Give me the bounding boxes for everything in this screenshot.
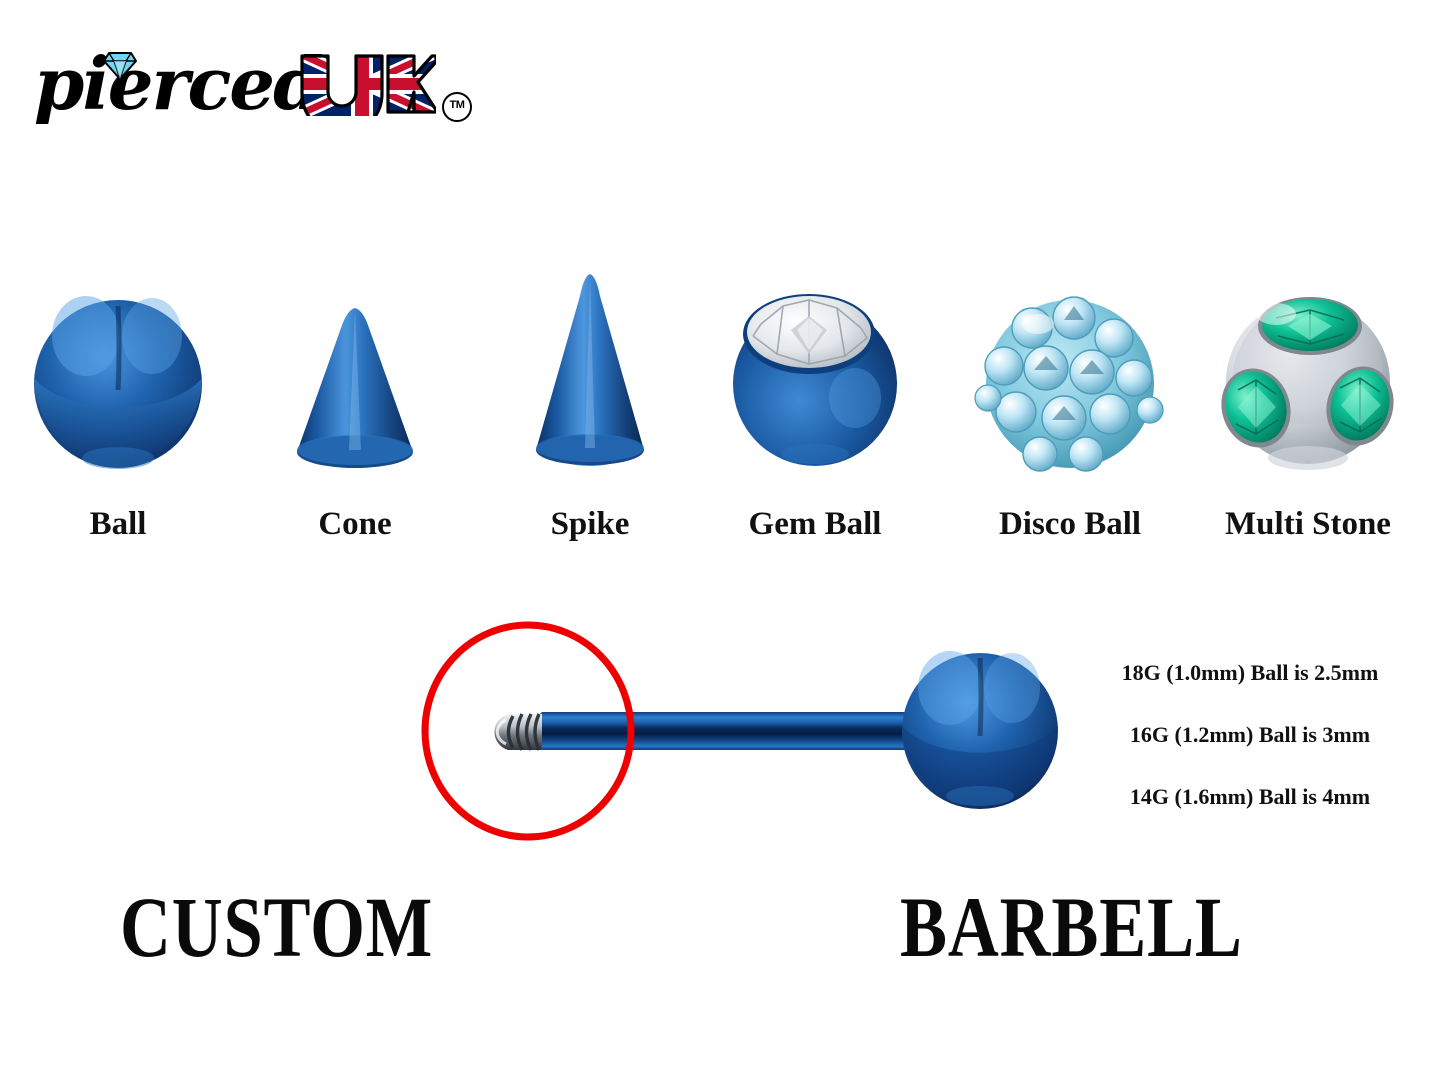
product-label-ball: Ball: [8, 506, 228, 543]
blue-spike-icon: [480, 262, 700, 502]
product-label-spike: Spike: [480, 506, 700, 543]
product-label-disco-ball: Disco Ball: [960, 506, 1180, 543]
product-item-disco-ball[interactable]: Disco Ball: [960, 262, 1180, 562]
brand-logo: pierced: [28, 40, 478, 135]
product-item-gem-ball[interactable]: Gem Ball: [705, 262, 925, 562]
size-spec-18g: 18G (1.0mm) Ball is 2.5mm: [1090, 660, 1410, 686]
blue-cone-icon: [245, 262, 465, 502]
multi-stone-ball-icon: [1198, 262, 1418, 502]
barbell-end-ball-icon: [902, 651, 1058, 809]
diamond-icon: [102, 50, 138, 82]
blue-ball-icon: [8, 262, 228, 502]
size-specification-list: 18G (1.0mm) Ball is 2.5mm 16G (1.2mm) Ba…: [1090, 660, 1410, 846]
disco-ball-icon: [960, 262, 1180, 502]
product-item-spike[interactable]: Spike: [480, 262, 700, 562]
union-jack-uk-mark: [296, 52, 436, 116]
product-label-cone: Cone: [245, 506, 465, 543]
product-label-multi-stone: Multi Stone: [1198, 506, 1418, 543]
trademark-icon: TM: [442, 92, 472, 122]
gem-ball-icon: [705, 262, 925, 502]
barbell-shaft: [540, 712, 940, 750]
product-variant-row: Ball Con: [0, 262, 1445, 562]
brand-wordmark: pierced: [34, 48, 321, 120]
barbell-graphic: [380, 600, 1080, 860]
size-spec-16g: 16G (1.2mm) Ball is 3mm: [1090, 722, 1410, 748]
threaded-screw-tip-icon: [494, 714, 542, 750]
headline-barbell: BARBELL: [900, 884, 1243, 970]
product-item-multi-stone[interactable]: Multi Stone: [1198, 262, 1418, 562]
headline-custom: CUSTOM: [120, 884, 433, 970]
product-item-cone[interactable]: Cone: [245, 262, 465, 562]
product-label-gem-ball: Gem Ball: [705, 506, 925, 543]
size-spec-14g: 14G (1.6mm) Ball is 4mm: [1090, 784, 1410, 810]
product-item-ball[interactable]: Ball: [8, 262, 228, 562]
